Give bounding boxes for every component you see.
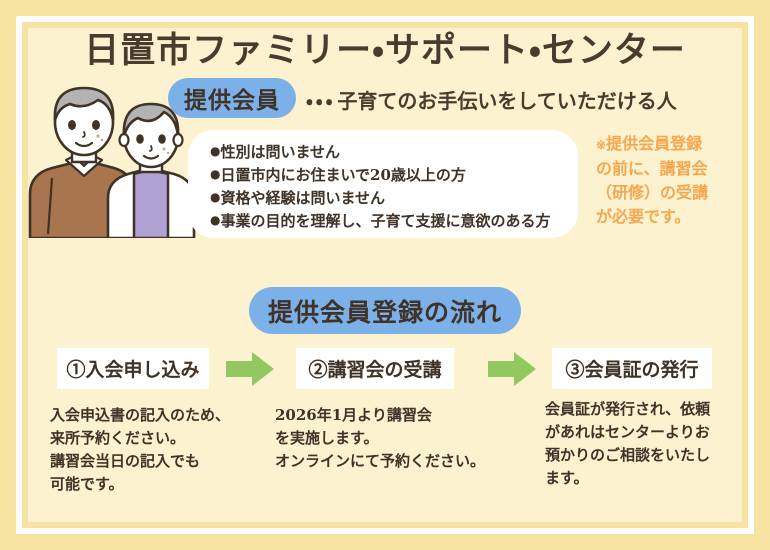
page-title: 日置市ファミリー・サポート・センター <box>0 22 770 73</box>
right-arrow-icon <box>488 352 536 386</box>
flow-step-1-label: ①入会申し込み <box>57 348 209 389</box>
poster-root: 日置市ファミリー・サポート・センター <box>0 0 770 550</box>
list-item-label: 性別は問いません <box>220 143 340 161</box>
note-line: ※提供会員登録 <box>596 132 746 157</box>
member-description-text: 子育てのお手伝いをしていただける人 <box>337 89 676 113</box>
note-line: の前に、講習会 <box>596 157 746 181</box>
list-item: ●日置市内にお住まいで20歳以上の方 <box>210 163 578 186</box>
note-line: （研修）の受講 <box>596 181 746 205</box>
list-item-label: 資格や経験は問いません <box>220 189 385 207</box>
note-line: が必要です。 <box>596 205 746 229</box>
flow-step-3-label: ③会員証の発行 <box>552 348 712 389</box>
flow-step-2-label: ②講習会の受講 <box>296 348 454 389</box>
list-item: ●事業の目的を理解し、子育て支援に意欲のある方 <box>210 209 578 232</box>
bullet-marker-icon: ● <box>210 190 220 204</box>
list-item: ●資格や経験は問いません <box>210 186 578 209</box>
list-item-label: 事業の目的を理解し、子育て支援に意欲のある方 <box>220 212 550 230</box>
right-arrow-icon <box>226 352 274 386</box>
flow-step-3-body: 会員証が発行され、依頼 があれはセンターよりお 預かりのご相談をいたし ます。 <box>545 398 735 490</box>
flow-section-heading: 提供会員登録の流れ <box>249 287 521 334</box>
note-mark-icon: ※ <box>596 138 606 152</box>
bullet-marker-icon: ● <box>210 167 220 181</box>
flow-step-2-body: 2026年1月より講習会 を実施します。 オンラインにて予約ください。 <box>275 404 500 473</box>
flow-step-1-body: 入会申込書の記入のため、 来所予約ください。 講習会当日の記入でも 可能です。 <box>50 404 265 496</box>
list-item-label: 日置市内にお住まいで20歳以上の方 <box>220 166 465 184</box>
badge-member-type: 提供会員 <box>168 78 296 118</box>
leader-dots: ・・・ <box>306 89 335 113</box>
member-description: ・・・子育てのお手伝いをしていただける人 <box>306 85 677 114</box>
bullet-marker-icon: ● <box>210 144 220 158</box>
training-required-note: ※提供会員登録 の前に、講習会 （研修）の受講 が必要です。 <box>596 132 746 229</box>
note-line-text: 提供会員登録 <box>606 134 702 153</box>
bullet-marker-icon: ● <box>210 213 220 227</box>
list-item: ●性別は問いません <box>210 140 578 163</box>
member-requirements-box: ●性別は問いません ●日置市内にお住まいで20歳以上の方 ●資格や経験は問いませ… <box>188 130 578 238</box>
